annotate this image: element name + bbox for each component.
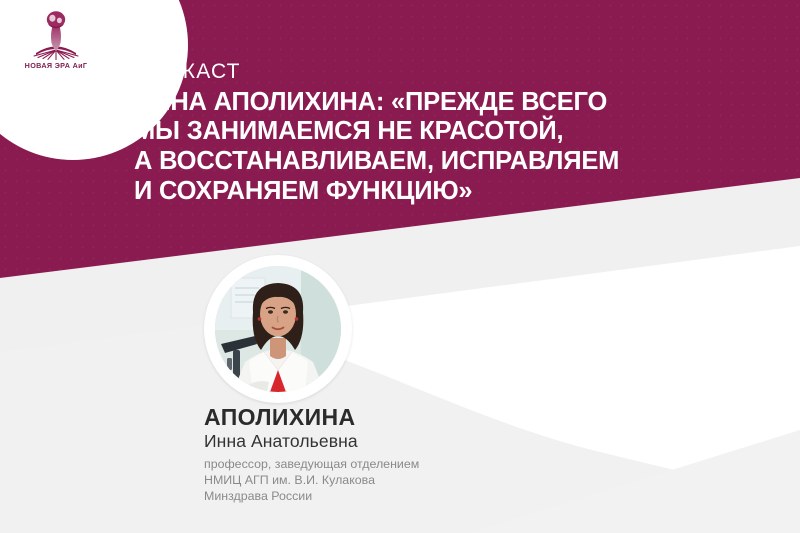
speaker-surname: АПОЛИХИНА [204, 405, 534, 430]
kicker-label: ПОДКАСТ [134, 60, 694, 84]
page-title: ИННА АПОЛИХИНА: «ПРЕЖДЕ ВСЕГО МЫ ЗАНИМАЕ… [134, 88, 694, 207]
doctor-portrait-photo [215, 266, 341, 392]
speaker-firstname: Инна Анатольевна [204, 431, 534, 452]
avatar [215, 266, 341, 392]
speaker-credentials: профессор, заведующая отделением НМИЦ АГ… [204, 457, 534, 505]
logo-text: НОВАЯ ЭРА АиГ [25, 61, 88, 70]
brand-logo[interactable]: НОВАЯ ЭРА АиГ [8, 4, 104, 70]
podcast-cover-slide: НОВАЯ ЭРА АиГ ПОДКАСТ ИННА АПОЛИХИНА: «П… [0, 0, 800, 533]
headline-block: ПОДКАСТ ИННА АПОЛИХИНА: «ПРЕЖДЕ ВСЕГО МЫ… [134, 60, 694, 207]
era-emblem-icon [26, 10, 86, 60]
speaker-namecard: АПОЛИХИНА Инна Анатольевна профессор, за… [204, 405, 534, 505]
